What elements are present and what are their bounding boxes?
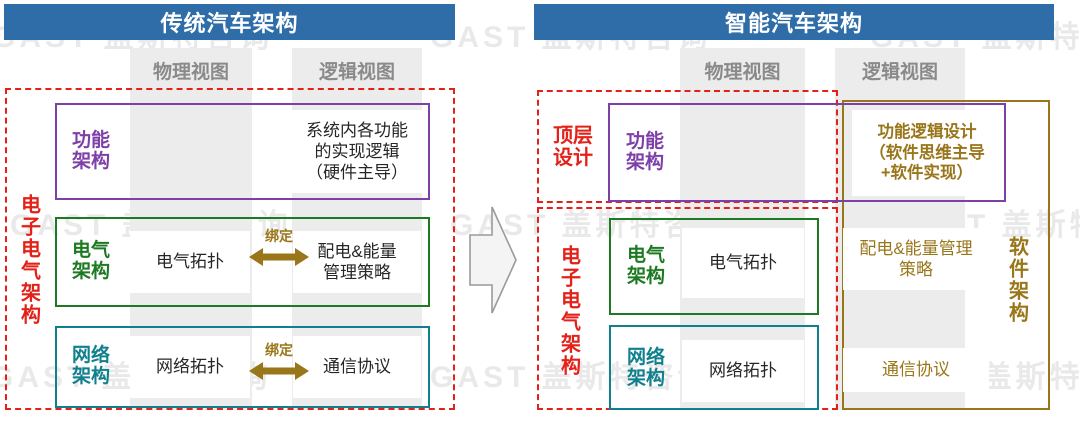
cell-electrical-physical: 电气拓扑 xyxy=(682,228,804,298)
column-header-physical: 物理视图 xyxy=(130,55,252,85)
cell-network-logical: 通信协议 xyxy=(843,348,989,392)
panel-title-intelligent: 智能汽车架构 xyxy=(534,4,1054,40)
column-header-logical: 逻辑视图 xyxy=(835,55,965,85)
row-tag-electrical: 电气 架构 xyxy=(615,228,677,306)
cell-network-physical: 网络拓扑 xyxy=(130,336,250,398)
cell-network-logical: 通信协议 xyxy=(293,336,421,398)
top-design-label: 顶层 设计 xyxy=(544,112,602,182)
panel-title-traditional: 传统汽车架构 xyxy=(4,4,455,40)
panel-intelligent: 智能汽车架构 物理视图 逻辑视图 顶层 设计 电子电气架构 软件架构 功能 架构… xyxy=(530,0,1080,444)
row-tag-electrical: 电气 架构 xyxy=(60,225,122,299)
ee-architecture-label: 电子电气架构 xyxy=(14,160,44,360)
cell-electrical-logical: 配电&能量 管理策略 xyxy=(293,231,421,293)
cell-network-physical: 网络拓扑 xyxy=(682,340,804,402)
panel-traditional: 传统汽车架构 物理视图 逻辑视图 电子电气架构 功能 架构 系统内各功能 的实现… xyxy=(0,0,470,444)
transition-arrow-icon xyxy=(462,205,518,315)
ee-architecture-label: 电子电气架构 xyxy=(554,228,584,393)
double-arrow-icon xyxy=(248,245,310,269)
double-arrow-icon xyxy=(248,359,310,383)
software-architecture-label: 软件架构 xyxy=(1000,205,1034,355)
binding-network: 绑定 xyxy=(248,340,310,384)
row-tag-functional: 功能 架构 xyxy=(614,113,676,193)
binding-electrical: 绑定 xyxy=(248,226,310,270)
cell-functional-logical: 系统内各功能 的实现逻辑 （硬件主导） xyxy=(291,110,423,193)
cell-functional-logic-design: 功能逻辑设计 （软件思维主导 +软件实现） xyxy=(852,110,1002,196)
binding-label: 绑定 xyxy=(248,226,310,246)
binding-label: 绑定 xyxy=(248,340,310,360)
row-tag-network: 网络 架构 xyxy=(60,332,122,402)
cell-electrical-logical: 配电&能量管理 策略 xyxy=(843,228,989,290)
row-tag-functional: 功能 架构 xyxy=(60,112,122,192)
cell-electrical-physical: 电气拓扑 xyxy=(130,231,250,293)
column-header-physical: 物理视图 xyxy=(680,55,805,85)
row-tag-network: 网络 架构 xyxy=(615,333,677,405)
column-header-logical: 逻辑视图 xyxy=(292,55,422,85)
